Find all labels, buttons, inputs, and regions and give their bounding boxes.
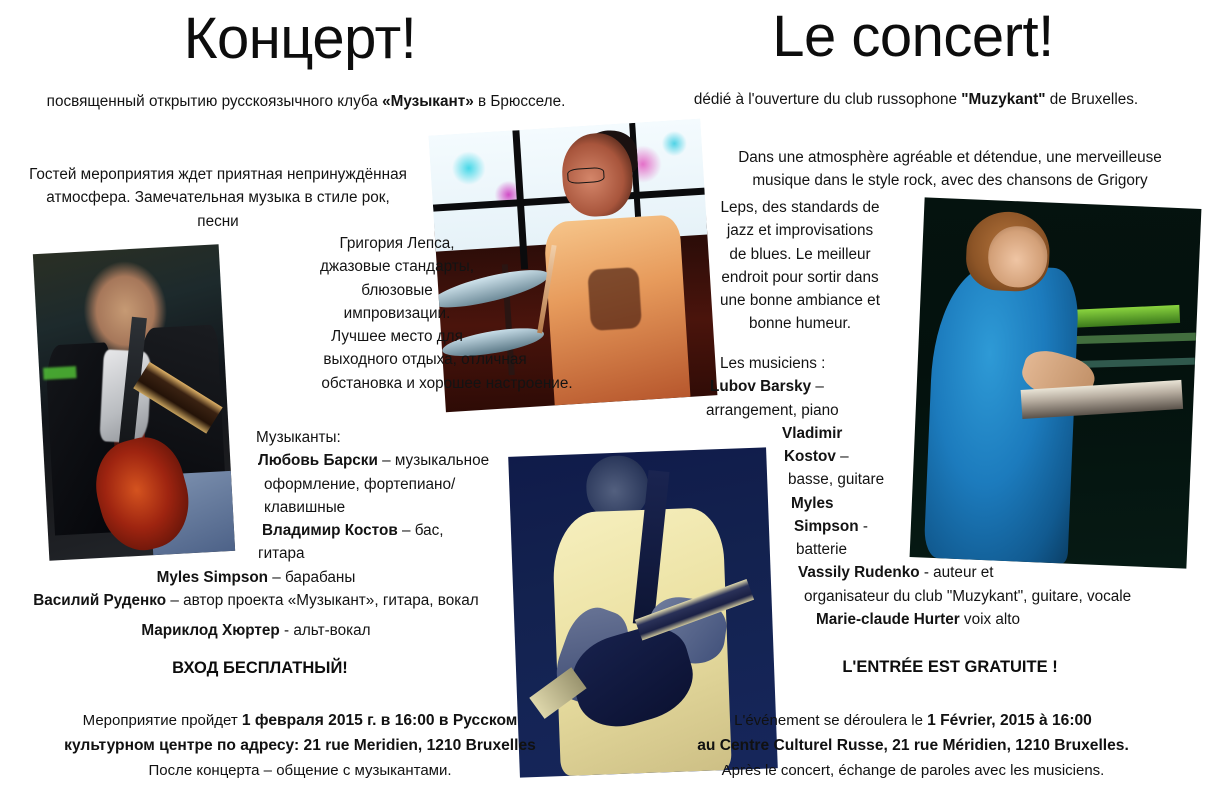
subtitle-french: dédié à l'ouverture du club russophone "… <box>630 88 1202 111</box>
musician-name: Myles Simpson <box>157 569 268 586</box>
footer-french: L'événement se déroulera le 1 Février, 2… <box>613 708 1213 783</box>
musician-row: оформление, фортепиано/ <box>0 473 512 496</box>
musician-row: Любовь Барски – музыкальное <box>0 449 512 472</box>
mid-ru-line: джазовые стандарты, <box>232 255 562 278</box>
middle-paragraph-russian: Григория Лепса, джазовые стандарты, блюз… <box>232 232 562 395</box>
mid-ru-line: Лучшее место для <box>232 325 562 348</box>
musician-name: Marie-claude Hurter <box>816 611 960 628</box>
subtitle-fr-before: dédié à l'ouverture du club russophone <box>694 91 961 108</box>
intro-fr-line: musique dans le style rock, avec des cha… <box>700 169 1200 192</box>
musician-row: Myles <box>706 492 1204 515</box>
footer-fr-line1: L'événement se déroulera le 1 Février, 2… <box>613 708 1213 733</box>
mid-ru-line: обстановка и хорошее настроение. <box>282 372 612 395</box>
musician-row: Myles Simpson – барабаны <box>0 566 512 589</box>
musician-role: - auteur et <box>920 564 994 581</box>
subtitle-fr-club: "Muzykant" <box>961 91 1045 108</box>
mid-ru-line: Григория Лепса, <box>232 232 562 255</box>
musician-role: – автор проекта «Музыкант», гитара, вока… <box>166 592 479 609</box>
footer-fr-date: 1 Février, 2015 à 16:00 <box>927 712 1092 729</box>
page-title-french: Le concert! <box>613 8 1213 66</box>
page-title-russian: Концерт! <box>0 10 600 68</box>
musician-name: Мариклод Хюртер <box>141 622 279 639</box>
mid-fr-line: endroit pour sortir dans <box>700 266 900 289</box>
musician-row: Василий Руденко – автор проекта «Музыкан… <box>0 589 512 612</box>
subtitle-ru-club: «Музыкант» <box>382 93 474 110</box>
musician-row: Vladimir <box>706 422 1204 445</box>
musician-role: basse, guitare <box>788 471 884 488</box>
musician-row: Lubov Barsky – <box>706 375 1204 398</box>
musician-row: Vassily Rudenko - auteur et <box>706 561 1204 584</box>
mid-ru-line: выходного отдыха, отличная <box>260 348 590 371</box>
musician-name: Любовь Барски <box>258 452 378 469</box>
mid-fr-line: jazz et improvisations <box>700 219 900 242</box>
mid-fr-line: une bonne ambiance et <box>700 289 900 312</box>
concert-poster: Концерт! Le concert! посвященный открыти… <box>0 0 1213 798</box>
musician-role: voix alto <box>960 611 1020 628</box>
musician-role: arrangement, piano <box>706 402 839 419</box>
intro-ru-line: песни <box>6 210 430 233</box>
footer-ru-address: культурном центре по адресу: 21 rue Meri… <box>64 737 536 754</box>
mid-ru-line: блюзовые <box>232 279 562 302</box>
musician-role: гитара <box>258 545 304 562</box>
intro-paragraph-russian: Гостей мероприятия ждет приятная неприну… <box>6 163 430 233</box>
footer-ru-plain: Мероприятие пройдет <box>83 712 242 729</box>
musician-role: batterie <box>796 541 847 558</box>
musician-role: – барабаны <box>268 569 355 586</box>
musicians-list-russian: Музыканты: Любовь Барски – музыкальное о… <box>0 426 512 642</box>
middle-paragraph-french: Leps, des standards de jazz et improvisa… <box>700 196 900 336</box>
musician-row: Simpson - <box>706 515 1204 538</box>
musician-role: - <box>859 518 868 535</box>
musician-row: гитара <box>0 542 512 565</box>
intro-ru-line: атмосфера. Замечательная музыка в стиле … <box>6 186 430 209</box>
musician-name: Vladimir <box>782 425 842 442</box>
subtitle-ru-before: посвященный открытию русскоязычного клуб… <box>47 93 382 110</box>
musician-row: arrangement, piano <box>706 399 1204 422</box>
musician-role: – <box>811 378 824 395</box>
subtitle-ru-after: в Брюсселе. <box>474 93 566 110</box>
musician-row: Marie-claude Hurter voix alto <box>706 608 1204 631</box>
musicians-list-french: Les musiciens : Lubov Barsky – arrangeme… <box>706 352 1204 631</box>
musician-role: – бас, <box>398 522 444 539</box>
footer-ru-note: После концерта – общение с музыкантами. <box>0 759 600 783</box>
intro-ru-line: Гостей мероприятия ждет приятная неприну… <box>6 163 430 186</box>
musician-role: оформление, фортепиано/ <box>264 476 455 493</box>
footer-fr-plain: L'événement se déroulera le <box>734 712 927 729</box>
subtitle-russian: посвященный открытию русскоязычного клуб… <box>22 90 590 113</box>
musician-role: клавишные <box>264 499 345 516</box>
footer-ru-line1: Мероприятие пройдет 1 февраля 2015 г. в … <box>0 708 600 733</box>
footer-russian: Мероприятие пройдет 1 февраля 2015 г. в … <box>0 708 600 783</box>
intro-fr-line: Dans une atmosphère agréable et détendue… <box>700 146 1200 169</box>
musician-role: organisateur du club "Muzykant", guitare… <box>804 588 1131 605</box>
musician-row: Владимир Костов – бас, <box>0 519 512 542</box>
musician-row: Мариклод Хюртер - альт-вокал <box>0 612 512 642</box>
musician-role: – <box>836 448 849 465</box>
musician-row: organisateur du club "Muzykant", guitare… <box>706 585 1204 608</box>
footer-ru-date: 1 февраля 2015 г. в 16:00 в Русском <box>242 712 517 729</box>
musician-row: Kostov – <box>706 445 1204 468</box>
mid-fr-line: de blues. Le meilleur <box>700 243 900 266</box>
musician-name: Lubov Barsky <box>710 378 811 395</box>
mid-ru-line: импровизации. <box>232 302 562 325</box>
footer-fr-address: au Centre Culturel Russe, 21 rue Méridie… <box>697 737 1129 754</box>
musician-role: – музыкальное <box>378 452 489 469</box>
musicians-heading-fr: Les musiciens : <box>706 352 1204 375</box>
musician-name: Vassily Rudenko <box>798 564 920 581</box>
mid-fr-line: Leps, des standards de <box>700 196 900 219</box>
free-entry-russian: ВХОД БЕСПЛАТНЫЙ! <box>0 659 520 678</box>
musician-role: - альт-вокал <box>280 622 371 639</box>
intro-paragraph-french: Dans une atmosphère agréable et détendue… <box>700 146 1200 193</box>
musician-row: batterie <box>706 538 1204 561</box>
footer-fr-note: Après le concert, échange de paroles ave… <box>613 759 1213 783</box>
subtitle-fr-after: de Bruxelles. <box>1045 91 1138 108</box>
free-entry-french: L'ENTRÉE EST GRATUITE ! <box>700 658 1200 677</box>
musician-name: Myles <box>791 495 834 512</box>
musicians-heading-ru: Музыканты: <box>0 426 512 449</box>
musician-row: basse, guitare <box>706 468 1204 491</box>
musician-name: Kostov <box>784 448 836 465</box>
musician-name: Simpson <box>794 518 859 535</box>
musician-row: клавишные <box>0 496 512 519</box>
mid-fr-line: bonne humeur. <box>700 312 900 335</box>
musician-name: Владимир Костов <box>262 522 398 539</box>
musician-name: Василий Руденко <box>33 592 166 609</box>
